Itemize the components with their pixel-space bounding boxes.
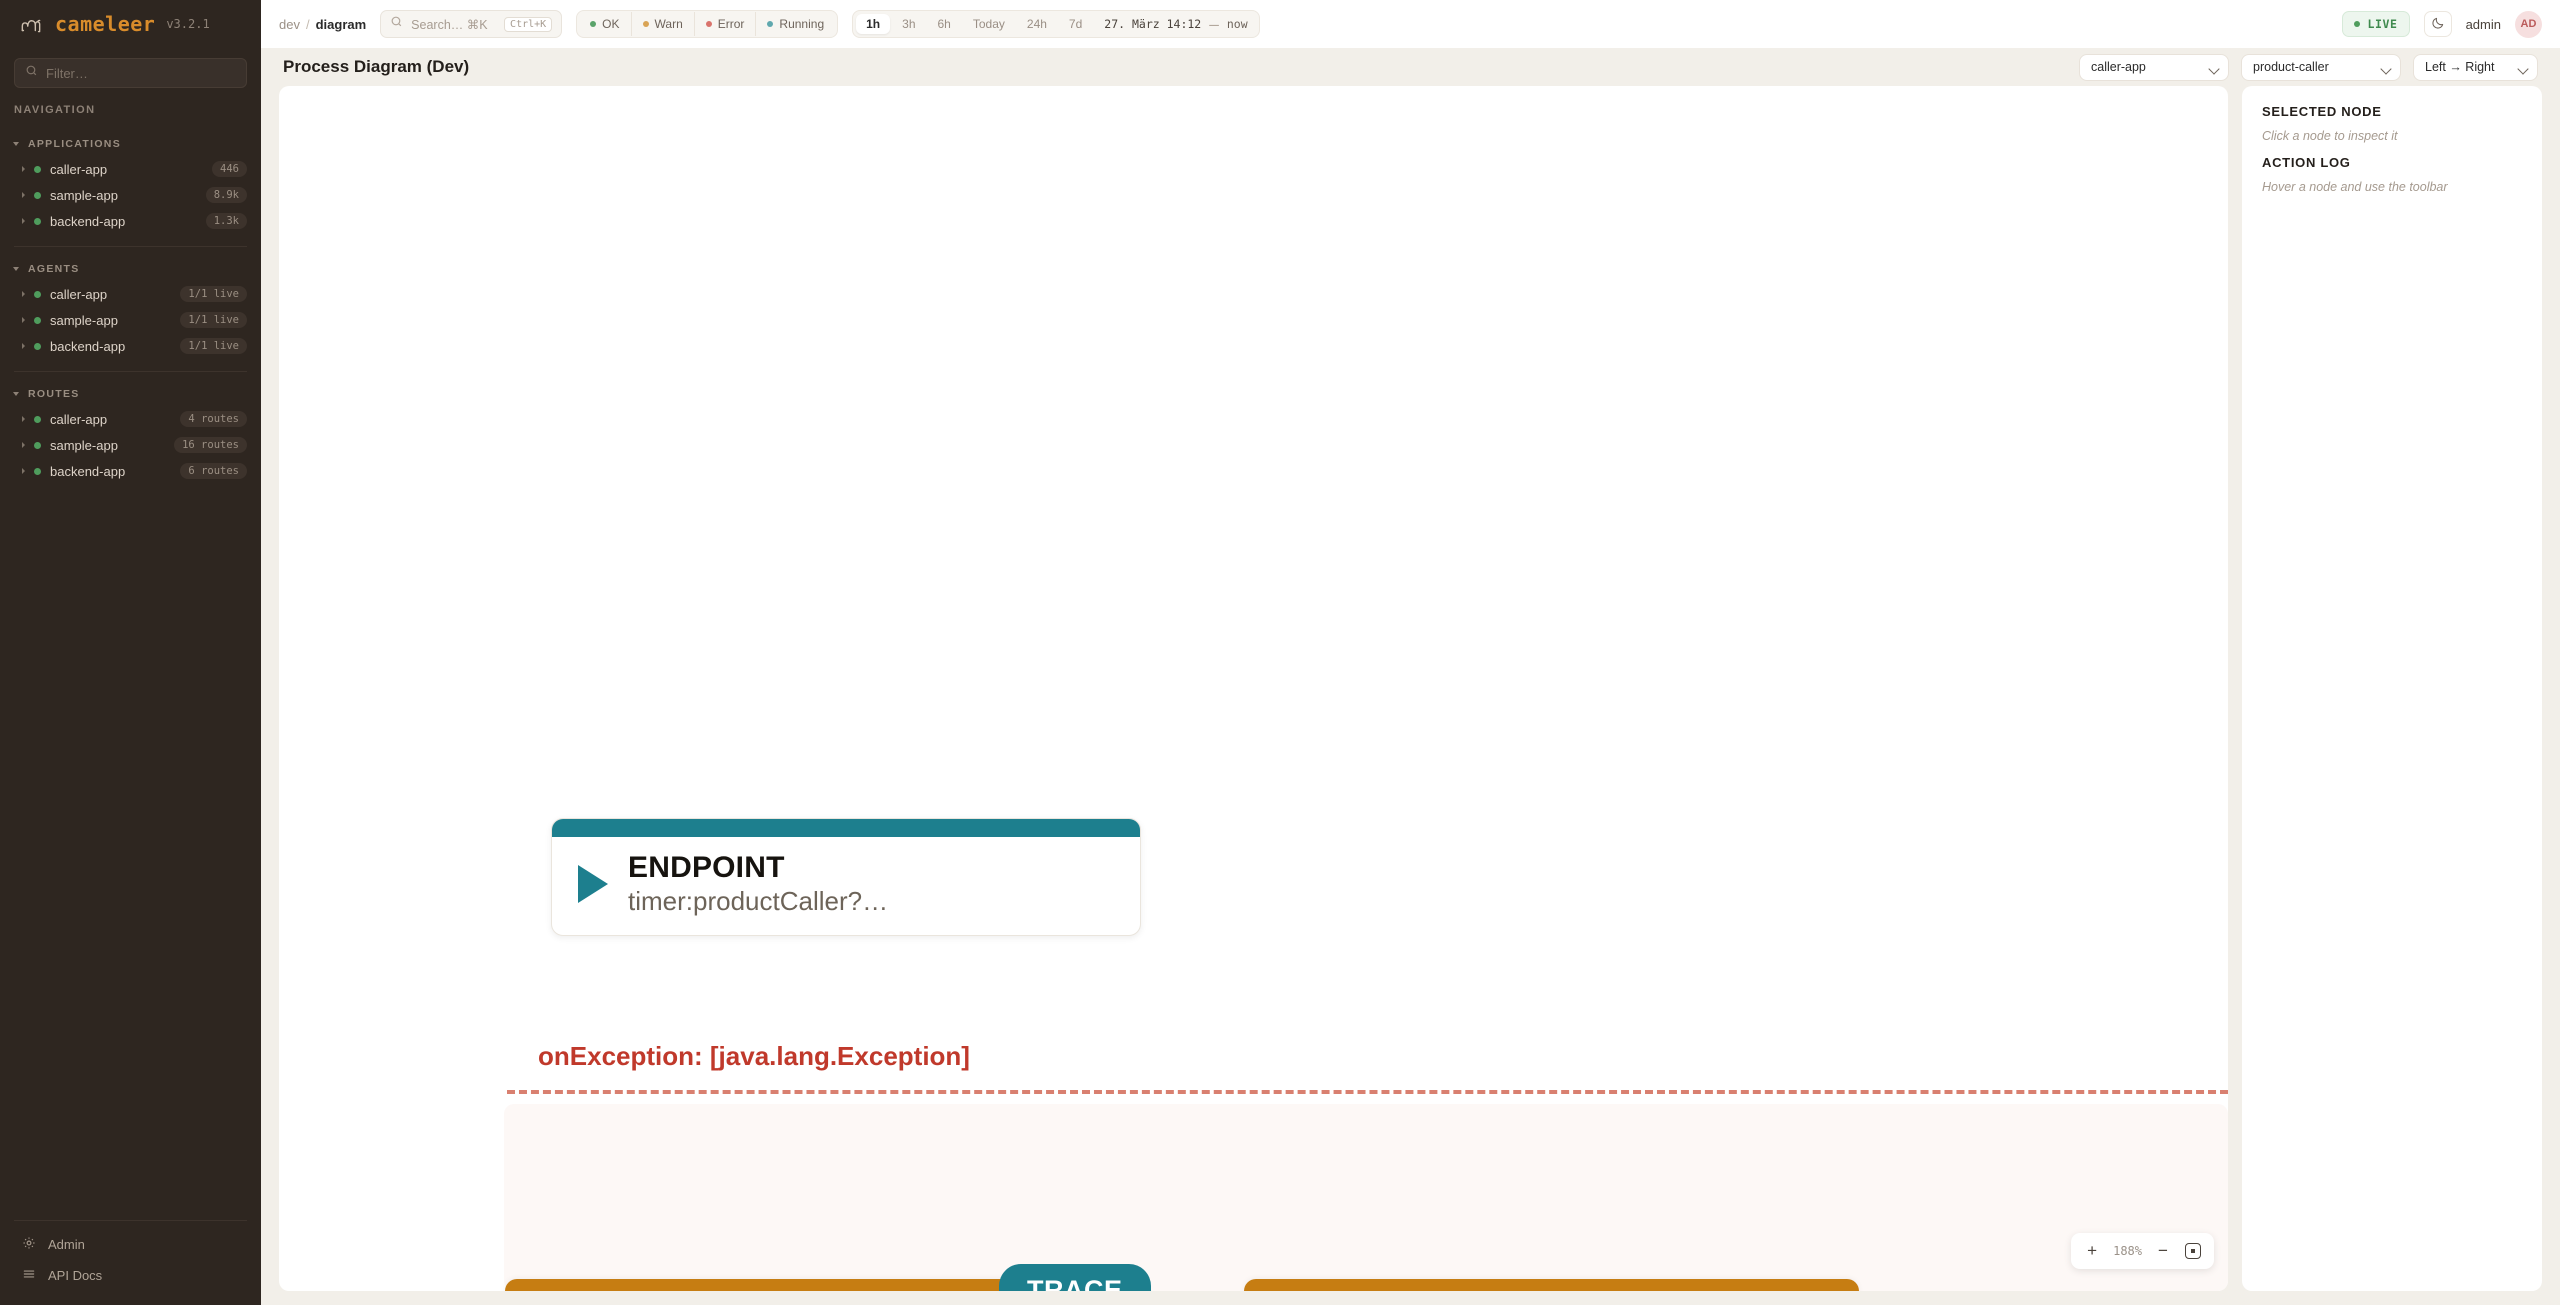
status-dot bbox=[34, 416, 41, 423]
sidebar-item-badge: 446 bbox=[212, 161, 247, 177]
chevron-right-icon bbox=[22, 166, 25, 172]
action-log-empty-text: Hover a node and use the toolbar bbox=[2262, 180, 2522, 194]
sidebar-item-agents-caller-app[interactable]: caller-app 1/1 live bbox=[0, 281, 261, 307]
endpoint-node[interactable]: ENDPOINT timer:productCaller?… bbox=[551, 818, 1141, 936]
chevron-right-icon bbox=[22, 291, 25, 297]
user-name: admin bbox=[2466, 17, 2501, 32]
nav-group-agents: AGENTS caller-app 1/1 live sample-app 1/… bbox=[0, 247, 261, 359]
status-dot-running bbox=[767, 21, 773, 27]
chevron-right-icon bbox=[22, 343, 25, 349]
status-dot bbox=[34, 291, 41, 298]
sidebar-item-badge: 8.9k bbox=[206, 187, 247, 203]
sidebar-item-badge: 1/1 live bbox=[180, 286, 247, 302]
processor-node-right[interactable] bbox=[1244, 1279, 1859, 1291]
status-chip-label: Running bbox=[779, 17, 824, 31]
fit-screen-button[interactable] bbox=[2180, 1239, 2206, 1263]
diagram-canvas[interactable]: ENDPOINT timer:productCaller?… onExcepti… bbox=[279, 86, 2228, 1291]
app-select[interactable]: caller-app bbox=[2079, 54, 2229, 81]
sidebar-item-applications-sample-app[interactable]: sample-app 8.9k bbox=[0, 182, 261, 208]
zoom-out-button[interactable]: − bbox=[2150, 1239, 2176, 1263]
sidebar-nav: NAVIGATION APPLICATIONS caller-app 446 s… bbox=[0, 88, 261, 1208]
time-range-from: 27. März 14:12 bbox=[1094, 17, 1201, 31]
time-range-dash: – bbox=[1203, 15, 1225, 34]
gear-icon bbox=[22, 1236, 36, 1253]
page-title: Process Diagram (Dev) bbox=[283, 57, 469, 77]
breadcrumb: dev / diagram bbox=[279, 17, 366, 32]
status-dot bbox=[34, 192, 41, 199]
sidebar-item-label: sample-app bbox=[50, 313, 171, 328]
time-range-to: now bbox=[1227, 17, 1256, 31]
status-chip-error[interactable]: Error bbox=[694, 12, 756, 36]
direction-select-wrap: Left → Right bbox=[2413, 54, 2538, 81]
chevron-right-icon bbox=[22, 192, 25, 198]
time-range-today[interactable]: Today bbox=[963, 14, 1015, 34]
sidebar-item-applications-caller-app[interactable]: caller-app 446 bbox=[0, 156, 261, 182]
sidebar-item-admin[interactable]: Admin bbox=[0, 1229, 261, 1260]
status-dot bbox=[34, 442, 41, 449]
trace-badge[interactable]: TRACE bbox=[999, 1264, 1151, 1291]
search-placeholder: Search… ⌘K bbox=[411, 17, 496, 32]
chevron-right-icon bbox=[22, 442, 25, 448]
zoom-controls: + 188% − bbox=[2071, 1233, 2214, 1269]
sidebar-item-badge: 6 routes bbox=[180, 463, 247, 479]
inspector-panel: SELECTED NODE Click a node to inspect it… bbox=[2242, 86, 2542, 1291]
search-icon bbox=[25, 64, 38, 82]
brand[interactable]: cameleer v3.2.1 bbox=[0, 0, 261, 48]
nav-group-header-routes[interactable]: ROUTES bbox=[0, 382, 261, 406]
sidebar-filter bbox=[0, 48, 261, 88]
camel-icon bbox=[18, 11, 44, 37]
breadcrumb-separator: / bbox=[306, 17, 310, 32]
exception-zone bbox=[504, 1104, 2228, 1291]
chevron-down-icon bbox=[13, 392, 19, 396]
status-dot-error bbox=[706, 21, 712, 27]
sidebar-item-agents-sample-app[interactable]: sample-app 1/1 live bbox=[0, 307, 261, 333]
sidebar-item-label: caller-app bbox=[50, 287, 171, 302]
page-toolbar: Process Diagram (Dev) caller-app product… bbox=[261, 48, 2560, 86]
route-select-wrap: product-caller bbox=[2241, 54, 2401, 81]
main-area: dev / diagram Search… ⌘K Ctrl+K OK bbox=[261, 0, 2560, 1305]
sidebar-footer: Admin API Docs bbox=[0, 1208, 261, 1305]
brand-version: v3.2.1 bbox=[166, 17, 209, 31]
status-filter-chips: OK Warn Error Running bbox=[576, 10, 838, 38]
nav-group-header-agents[interactable]: AGENTS bbox=[0, 257, 261, 281]
status-dot bbox=[34, 166, 41, 173]
live-status-badge[interactable]: LIVE bbox=[2342, 11, 2409, 37]
chevron-down-icon bbox=[13, 267, 19, 271]
sidebar-item-routes-caller-app[interactable]: caller-app 4 routes bbox=[0, 406, 261, 432]
sidebar-item-label: backend-app bbox=[50, 339, 171, 354]
app-select-wrap: caller-app bbox=[2079, 54, 2229, 81]
avatar[interactable]: AD bbox=[2515, 11, 2542, 38]
filter-input[interactable] bbox=[46, 66, 236, 81]
search-shortcut-kbd: Ctrl+K bbox=[504, 17, 552, 32]
nav-group-label: AGENTS bbox=[28, 263, 80, 275]
endpoint-node-body: ENDPOINT timer:productCaller?… bbox=[552, 837, 1140, 935]
status-dot bbox=[34, 218, 41, 225]
time-range-3h[interactable]: 3h bbox=[892, 14, 925, 34]
sidebar-item-routes-backend-app[interactable]: backend-app 6 routes bbox=[0, 458, 261, 484]
direction-select[interactable]: Left → Right bbox=[2413, 54, 2538, 81]
status-chip-running[interactable]: Running bbox=[755, 12, 835, 36]
content-area: ENDPOINT timer:productCaller?… onExcepti… bbox=[261, 86, 2560, 1305]
sidebar-item-agents-backend-app[interactable]: backend-app 1/1 live bbox=[0, 333, 261, 359]
nav-section-title: NAVIGATION bbox=[0, 104, 261, 122]
time-range-6h[interactable]: 6h bbox=[928, 14, 961, 34]
sidebar-item-label: backend-app bbox=[50, 464, 171, 479]
chevron-down-icon bbox=[13, 142, 19, 146]
topbar: dev / diagram Search… ⌘K Ctrl+K OK bbox=[261, 0, 2560, 48]
nav-group-header-applications[interactable]: APPLICATIONS bbox=[0, 132, 261, 156]
search-icon bbox=[390, 15, 403, 33]
sidebar-footer-label: API Docs bbox=[48, 1268, 102, 1283]
status-dot bbox=[34, 343, 41, 350]
fit-screen-icon bbox=[2185, 1243, 2201, 1259]
nav-group-routes: ROUTES caller-app 4 routes sample-app 16… bbox=[0, 372, 261, 484]
app-root: cameleer v3.2.1 NAVIGATION APPLICATIONS bbox=[0, 0, 2560, 1305]
sidebar-item-label: sample-app bbox=[50, 188, 197, 203]
live-dot bbox=[2354, 21, 2360, 27]
filter-box[interactable] bbox=[14, 58, 247, 88]
sidebar-item-badge: 1.3k bbox=[206, 213, 247, 229]
nav-group-label: APPLICATIONS bbox=[28, 138, 121, 150]
exception-label: onException: [java.lang.Exception] bbox=[538, 1041, 970, 1072]
status-chip-label: Error bbox=[718, 17, 745, 31]
moon-icon bbox=[2431, 16, 2445, 33]
processor-node-right-header bbox=[1244, 1279, 1859, 1291]
status-chip-ok[interactable]: OK bbox=[579, 12, 630, 36]
menu-icon bbox=[22, 1267, 36, 1284]
sidebar-item-api-docs[interactable]: API Docs bbox=[0, 1260, 261, 1291]
sidebar-item-applications-backend-app[interactable]: backend-app 1.3k bbox=[0, 208, 261, 234]
live-label: LIVE bbox=[2367, 17, 2397, 31]
sidebar-divider bbox=[14, 1220, 247, 1221]
status-dot-warn bbox=[643, 21, 649, 27]
action-log-heading: ACTION LOG bbox=[2262, 155, 2522, 170]
sidebar-item-badge: 16 routes bbox=[174, 437, 247, 453]
zoom-in-button[interactable]: + bbox=[2079, 1239, 2105, 1263]
search-box[interactable]: Search… ⌘K Ctrl+K bbox=[380, 10, 562, 38]
chevron-right-icon bbox=[22, 468, 25, 474]
nav-group-applications: APPLICATIONS caller-app 446 sample-app 8… bbox=[0, 122, 261, 234]
theme-toggle-button[interactable] bbox=[2424, 11, 2452, 37]
time-range-1h[interactable]: 1h bbox=[856, 14, 890, 34]
route-select[interactable]: product-caller bbox=[2241, 54, 2401, 81]
status-dot bbox=[34, 317, 41, 324]
endpoint-node-header bbox=[552, 819, 1140, 837]
time-range-24h[interactable]: 24h bbox=[1017, 14, 1057, 34]
status-dot bbox=[34, 468, 41, 475]
brand-name: cameleer bbox=[55, 12, 155, 36]
chevron-right-icon bbox=[22, 218, 25, 224]
status-chip-label: Warn bbox=[655, 17, 683, 31]
play-icon bbox=[578, 865, 608, 903]
sidebar-item-label: caller-app bbox=[50, 412, 171, 427]
chevron-right-icon bbox=[22, 416, 25, 422]
breadcrumb-current: diagram bbox=[316, 17, 367, 32]
sidebar-item-label: caller-app bbox=[50, 162, 203, 177]
status-chip-warn[interactable]: Warn bbox=[631, 12, 694, 36]
nav-group-label: ROUTES bbox=[28, 388, 80, 400]
sidebar-item-routes-sample-app[interactable]: sample-app 16 routes bbox=[0, 432, 261, 458]
sidebar-item-badge: 4 routes bbox=[180, 411, 247, 427]
time-range-selector: 1h 3h 6h Today 24h 7d 27. März 14:12 – n… bbox=[852, 10, 1260, 38]
status-chip-label: OK bbox=[602, 17, 619, 31]
breadcrumb-root[interactable]: dev bbox=[279, 17, 300, 32]
endpoint-node-uri: timer:productCaller?… bbox=[628, 886, 888, 917]
endpoint-node-text: ENDPOINT timer:productCaller?… bbox=[628, 851, 888, 917]
sidebar-item-label: sample-app bbox=[50, 438, 165, 453]
endpoint-node-kind: ENDPOINT bbox=[628, 851, 888, 886]
selected-node-heading: SELECTED NODE bbox=[2262, 104, 2522, 119]
sidebar-item-badge: 1/1 live bbox=[180, 338, 247, 354]
time-range-7d[interactable]: 7d bbox=[1059, 14, 1092, 34]
sidebar-item-label: backend-app bbox=[50, 214, 197, 229]
exception-boundary-line bbox=[507, 1090, 2228, 1094]
zoom-level: 188% bbox=[2109, 1244, 2146, 1258]
chevron-right-icon bbox=[22, 317, 25, 323]
status-dot-ok bbox=[590, 21, 596, 27]
selected-node-empty-text: Click a node to inspect it bbox=[2262, 129, 2522, 143]
sidebar-item-badge: 1/1 live bbox=[180, 312, 247, 328]
sidebar-footer-label: Admin bbox=[48, 1237, 85, 1252]
sidebar: cameleer v3.2.1 NAVIGATION APPLICATIONS bbox=[0, 0, 261, 1305]
